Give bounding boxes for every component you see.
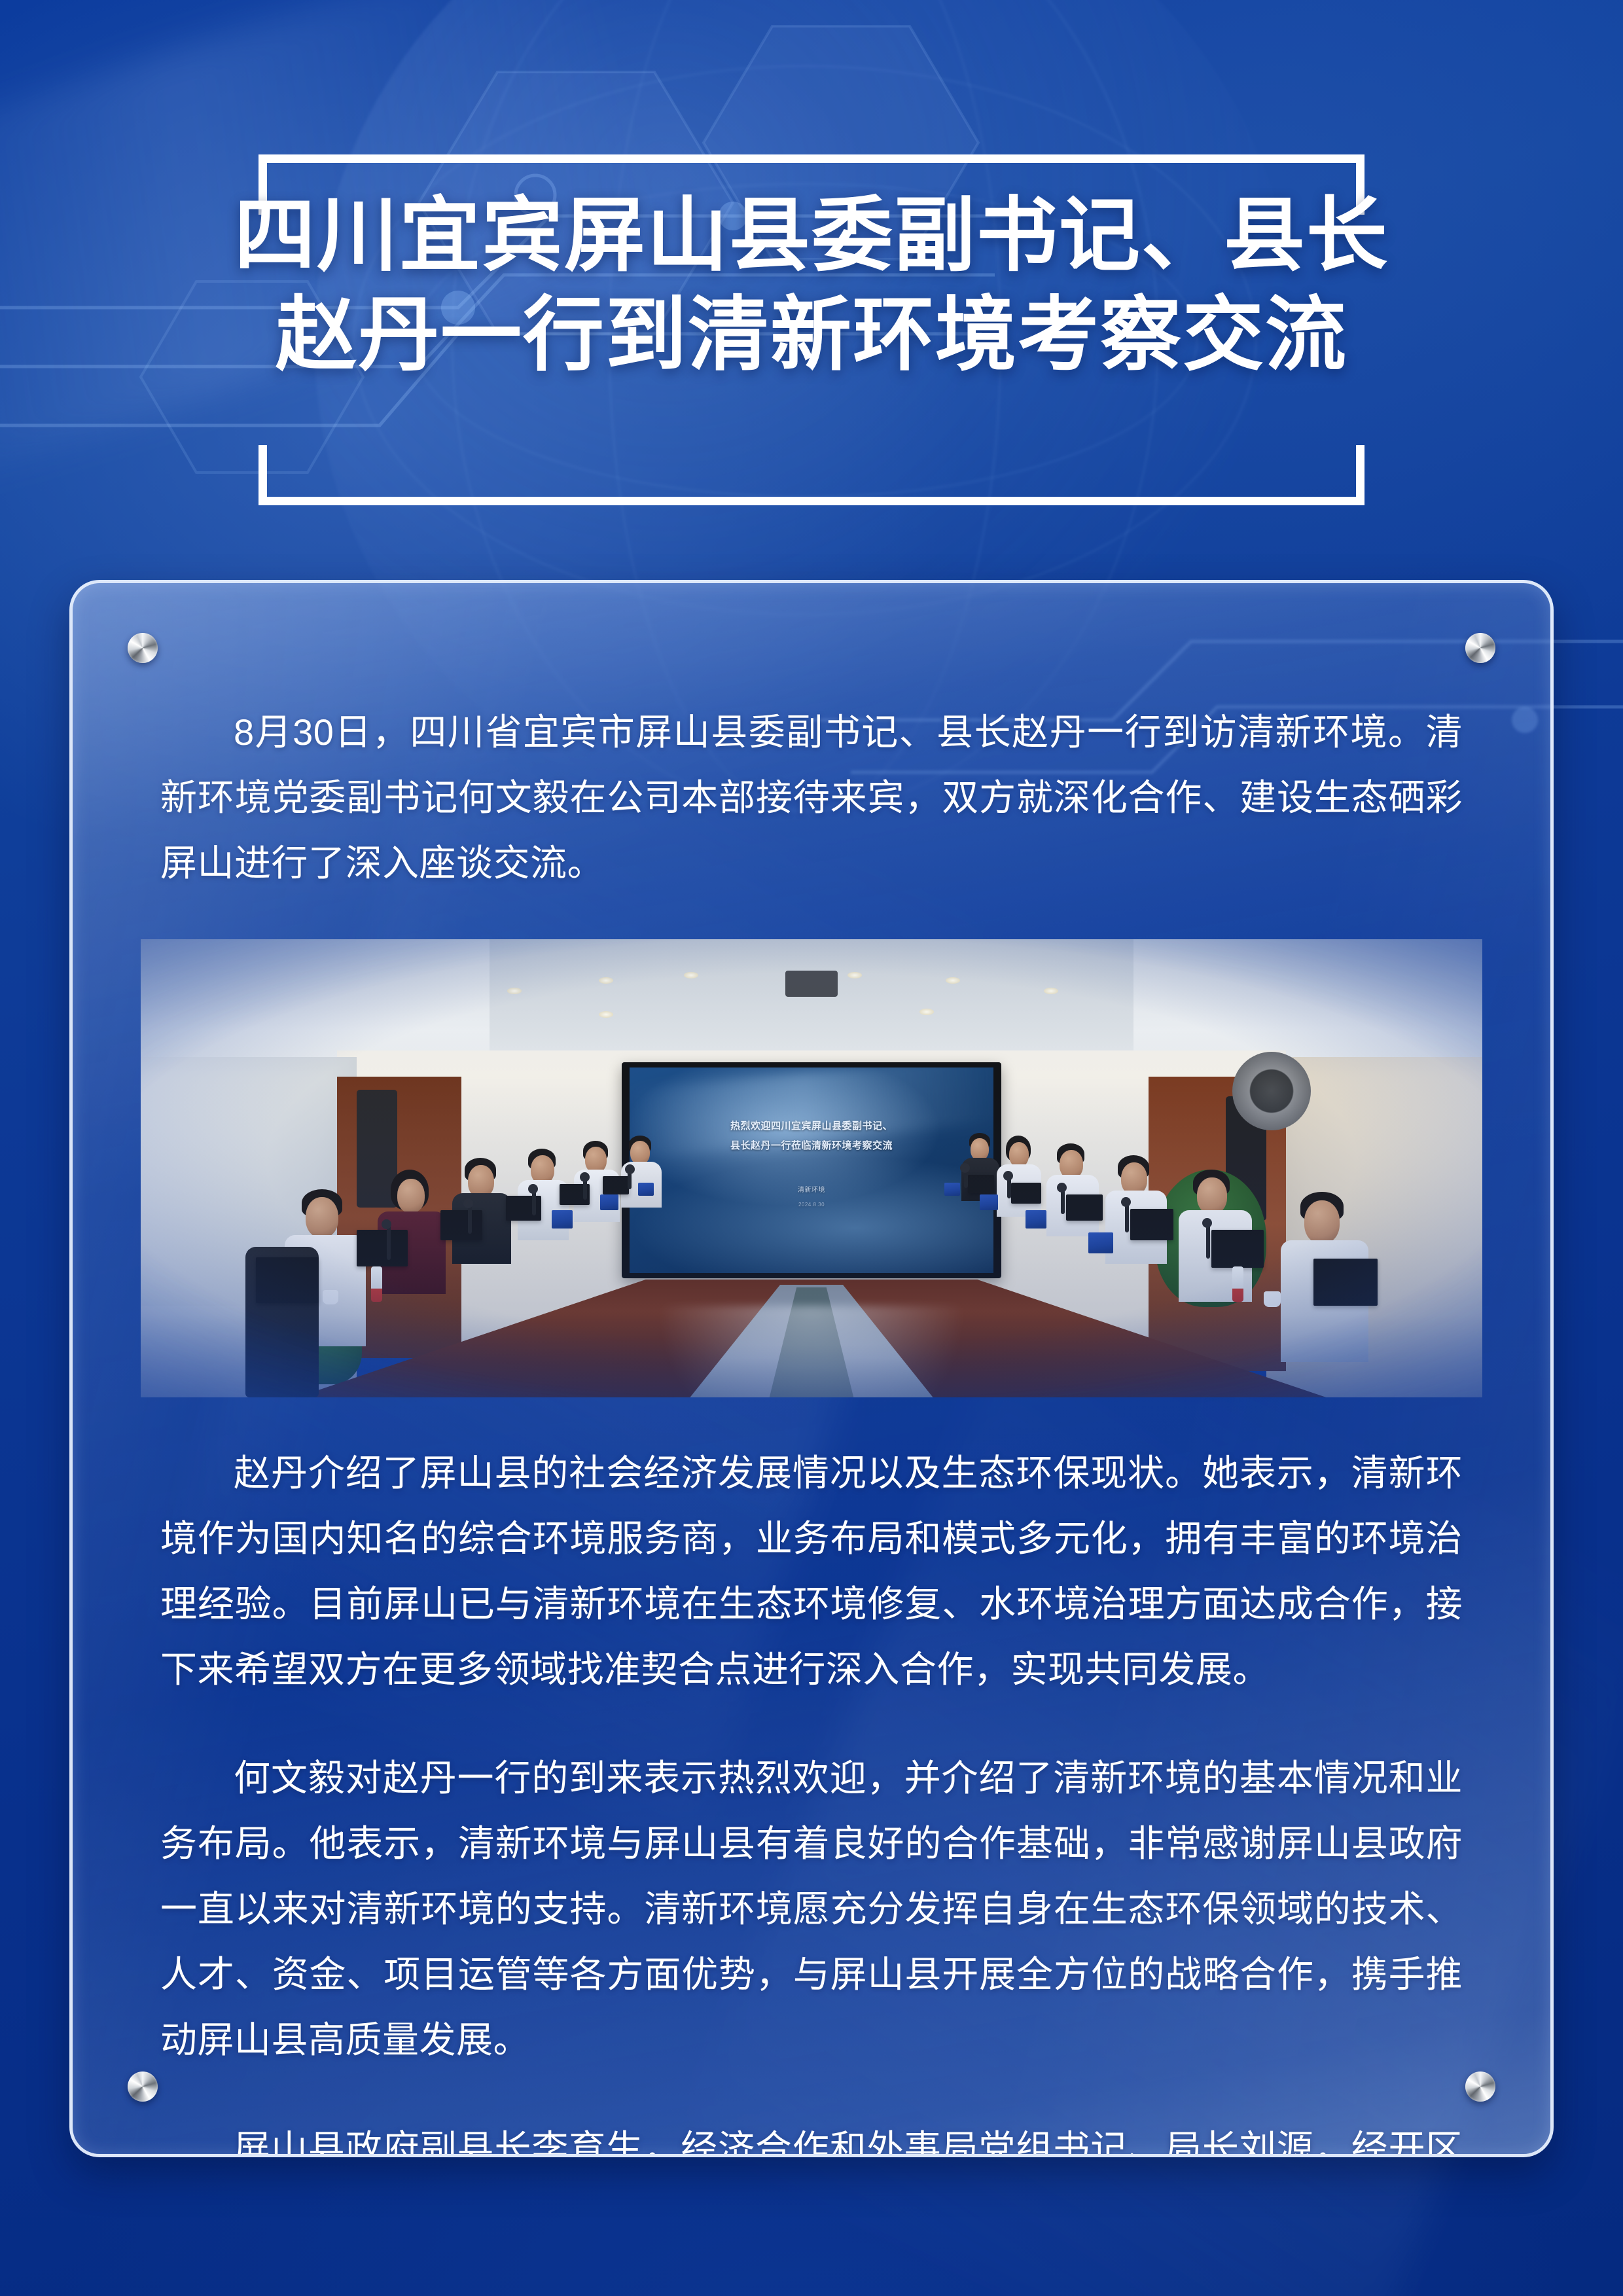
rivet-bottom-left [128, 2072, 158, 2102]
content-card: 8月30日，四川省宜宾市屏山县委副书记、县长赵丹一行到访清新环境。清新环境党委副… [69, 580, 1554, 2157]
page-title-line-2: 赵丹一行到清新环境考察交流 [0, 285, 1623, 385]
rivet-bottom-right [1465, 2072, 1495, 2102]
article-paragraph-3: 何文毅对赵丹一行的到来表示热烈欢迎，并介绍了清新环境的基本情况和业务布局。他表示… [160, 1746, 1463, 2073]
rivet-top-left [128, 633, 158, 663]
article-paragraph-1: 8月30日，四川省宜宾市屏山县委副书记、县长赵丹一行到访清新环境。清新环境党委副… [160, 700, 1463, 896]
article-paragraph-4: 屏山县政府副县长李育生，经济合作和外事局党组书记、局长刘源，经开区经济发展局局长… [160, 2116, 1463, 2157]
article-paragraph-2: 赵丹介绍了屏山县的社会经济发展情况以及生态环保现状。她表示，清新环境作为国内知名… [160, 1441, 1463, 1702]
poster-root: 四川宜宾屏山县委副书记、县长 赵丹一行到清新环境考察交流 8月30日，四川省宜宾… [0, 0, 1623, 2296]
poster-title-block: 四川宜宾屏山县委副书记、县长 赵丹一行到清新环境考察交流 [0, 154, 1623, 385]
page-title: 四川宜宾屏山县委副书记、县长 赵丹一行到清新环境考察交流 [0, 154, 1623, 385]
rivet-top-right [1465, 633, 1495, 663]
page-title-line-1: 四川宜宾屏山县委副书记、县长 [0, 186, 1623, 285]
meeting-photo: 热烈欢迎四川宜宾屏山县委副书记、 县长赵丹一行莅临清新环境考察交流 清新环境 2… [141, 939, 1482, 1397]
meeting-photo-image: 热烈欢迎四川宜宾屏山县委副书记、 县长赵丹一行莅临清新环境考察交流 清新环境 2… [141, 939, 1482, 1397]
card-content: 8月30日，四川省宜宾市屏山县委副书记、县长赵丹一行到访清新环境。清新环境党委副… [73, 583, 1550, 2157]
title-bracket-bottom [259, 445, 1364, 505]
